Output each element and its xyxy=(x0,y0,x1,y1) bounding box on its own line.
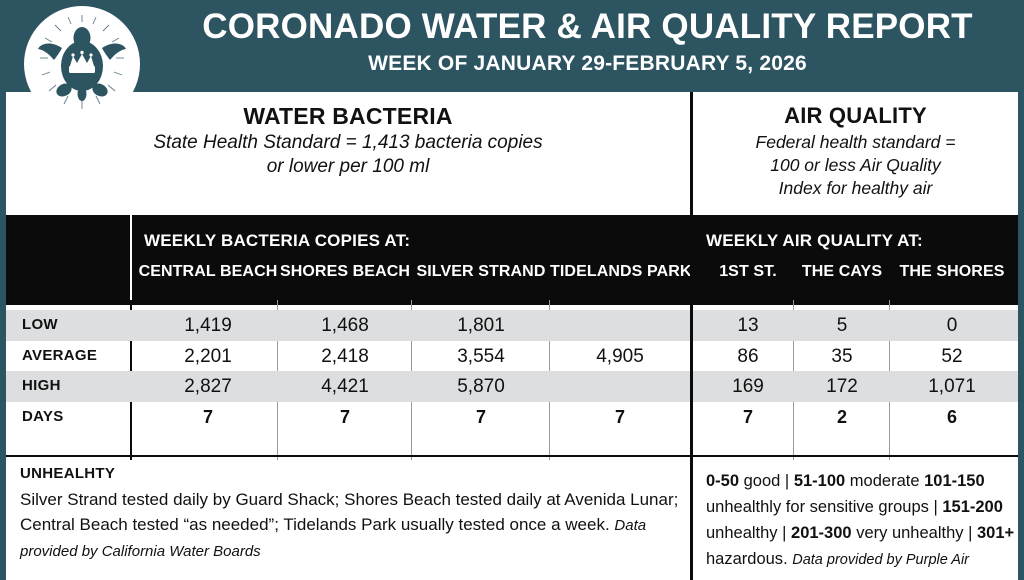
water-standard-line-2: or lower per 100 ml xyxy=(6,155,690,179)
report-header: CORONADO WATER & AIR QUALITY REPORT WEEK… xyxy=(0,0,1024,92)
air-standard-line-3: Index for healthy air xyxy=(693,177,1018,200)
cell-high-central-beach: 2,827 xyxy=(138,371,278,402)
cell-low-tidelands-park xyxy=(550,310,690,341)
column-header-central-beach: CENTRAL BEACH xyxy=(138,263,278,281)
aqi-label-moderate: moderate xyxy=(850,472,920,490)
aqi-label-sensitive: unhealthly for sensitive groups xyxy=(706,498,929,516)
cell-low-shores-beach: 1,468 xyxy=(278,310,412,341)
table-row-days: DAYS 7 7 7 7 7 2 6 xyxy=(6,402,1018,433)
column-header-shores-beach: SHORES BEACH xyxy=(278,263,412,281)
cell-average-central-beach: 2,201 xyxy=(138,341,278,372)
cell-average-the-cays: 35 xyxy=(794,341,890,372)
report-infographic: CORONADO WATER & AIR QUALITY REPORT WEEK… xyxy=(0,0,1024,580)
cell-average-silver-strand: 3,554 xyxy=(412,341,550,372)
aqi-range-151-200: 151-200 xyxy=(942,498,1003,516)
air-group-header: WEEKLY AIR QUALITY AT: xyxy=(706,231,923,251)
cell-days-silver-strand: 7 xyxy=(412,402,550,433)
aqi-range-301-plus: 301+ xyxy=(977,524,1014,542)
water-notes-text: Silver Strand tested daily by Guard Shac… xyxy=(20,490,678,534)
air-section-title: AIR QUALITY xyxy=(693,101,1018,131)
cell-days-central-beach: 7 xyxy=(138,402,278,433)
page-title: CORONADO WATER & AIR QUALITY REPORT xyxy=(165,6,1010,48)
report-card: WATER BACTERIA State Health Standard = 1… xyxy=(6,92,1018,580)
cell-average-the-shores: 52 xyxy=(890,341,1014,372)
section-divider xyxy=(690,92,693,580)
cell-days-the-cays: 2 xyxy=(794,402,890,433)
cell-low-the-cays: 5 xyxy=(794,310,890,341)
cell-low-1st-st: 13 xyxy=(702,310,794,341)
column-header-1st-st: 1ST ST. xyxy=(702,263,794,281)
crowned-sea-turtle-logo-icon xyxy=(24,6,140,122)
air-quality-banner: AIR QUALITY Federal health standard = 10… xyxy=(693,92,1018,215)
headband-divider-left xyxy=(130,215,132,305)
row-label-average: AVERAGE xyxy=(22,341,97,372)
air-quality-scale-legend: 0-50 good | 51-100 moderate 101-150 unhe… xyxy=(706,468,1016,573)
water-standard-line-1: State Health Standard = 1,413 bacteria c… xyxy=(6,131,690,155)
cell-days-shores-beach: 7 xyxy=(278,402,412,433)
grid-bottom-rule xyxy=(6,455,1018,457)
aqi-range-101-150: 101-150 xyxy=(924,472,985,490)
row-label-high: HIGH xyxy=(22,371,61,402)
table-row-average: AVERAGE 2,201 2,418 3,554 4,905 86 35 52 xyxy=(6,341,1018,372)
cell-average-1st-st: 86 xyxy=(702,341,794,372)
column-header-silver-strand: SILVER STRAND xyxy=(412,263,550,281)
row-label-days: DAYS xyxy=(22,402,64,433)
report-week-subtitle: WEEK OF JANUARY 29-FEBRUARY 5, 2026 xyxy=(165,49,1010,79)
data-grid: LOW 1,419 1,468 1,801 13 5 0 AVERAGE 2,2… xyxy=(6,305,1018,455)
aqi-range-0-50: 0-50 xyxy=(706,472,739,490)
column-header-tidelands-park: TIDELANDS PARK xyxy=(550,263,690,281)
cell-high-1st-st: 169 xyxy=(702,371,794,402)
air-standard-line-1: Federal health standard = xyxy=(693,131,1018,154)
air-standard-line-2: 100 or less Air Quality xyxy=(693,154,1018,177)
air-notes-source: Data provided by Purple Air xyxy=(792,552,969,568)
water-notes-heading: UNHEALHTY xyxy=(20,464,680,484)
water-group-header: WEEKLY BACTERIA COPIES AT: xyxy=(144,231,410,251)
cell-days-the-shores: 6 xyxy=(890,402,1014,433)
cell-average-tidelands-park: 4,905 xyxy=(550,341,690,372)
turtle-icon xyxy=(24,6,140,122)
aqi-label-unhealthy: unhealthy xyxy=(706,524,778,542)
cell-high-the-cays: 172 xyxy=(794,371,890,402)
aqi-label-hazardous: hazardous xyxy=(706,550,783,568)
cell-low-silver-strand: 1,801 xyxy=(412,310,550,341)
aqi-label-very-unhealthy: very unhealthy xyxy=(856,524,963,542)
aqi-range-51-100: 51-100 xyxy=(794,472,845,490)
aqi-range-201-300: 201-300 xyxy=(791,524,852,542)
cell-high-silver-strand: 5,870 xyxy=(412,371,550,402)
cell-low-the-shores: 0 xyxy=(890,310,1014,341)
table-row-low: LOW 1,419 1,468 1,801 13 5 0 xyxy=(6,310,1018,341)
cell-high-the-shores: 1,071 xyxy=(890,371,1014,402)
aqi-label-good: good xyxy=(744,472,781,490)
table-row-high: HIGH 2,827 4,421 5,870 169 172 1,071 xyxy=(6,371,1018,402)
water-footnotes: UNHEALHTY Silver Strand tested daily by … xyxy=(20,464,680,564)
water-notes-body: Silver Strand tested daily by Guard Shac… xyxy=(20,487,680,564)
row-label-low: LOW xyxy=(22,310,58,341)
column-header-band: WEEKLY BACTERIA COPIES AT: WEEKLY AIR QU… xyxy=(6,215,1018,305)
cell-days-tidelands-park: 7 xyxy=(550,402,690,433)
cell-high-tidelands-park xyxy=(550,371,690,402)
cell-low-central-beach: 1,419 xyxy=(138,310,278,341)
column-header-the-shores: THE SHORES xyxy=(890,263,1014,281)
column-header-the-cays: THE CAYS xyxy=(794,263,890,281)
cell-average-shores-beach: 2,418 xyxy=(278,341,412,372)
header-text-block: CORONADO WATER & AIR QUALITY REPORT WEEK… xyxy=(165,6,1010,79)
cell-days-1st-st: 7 xyxy=(702,402,794,433)
cell-high-shores-beach: 4,421 xyxy=(278,371,412,402)
